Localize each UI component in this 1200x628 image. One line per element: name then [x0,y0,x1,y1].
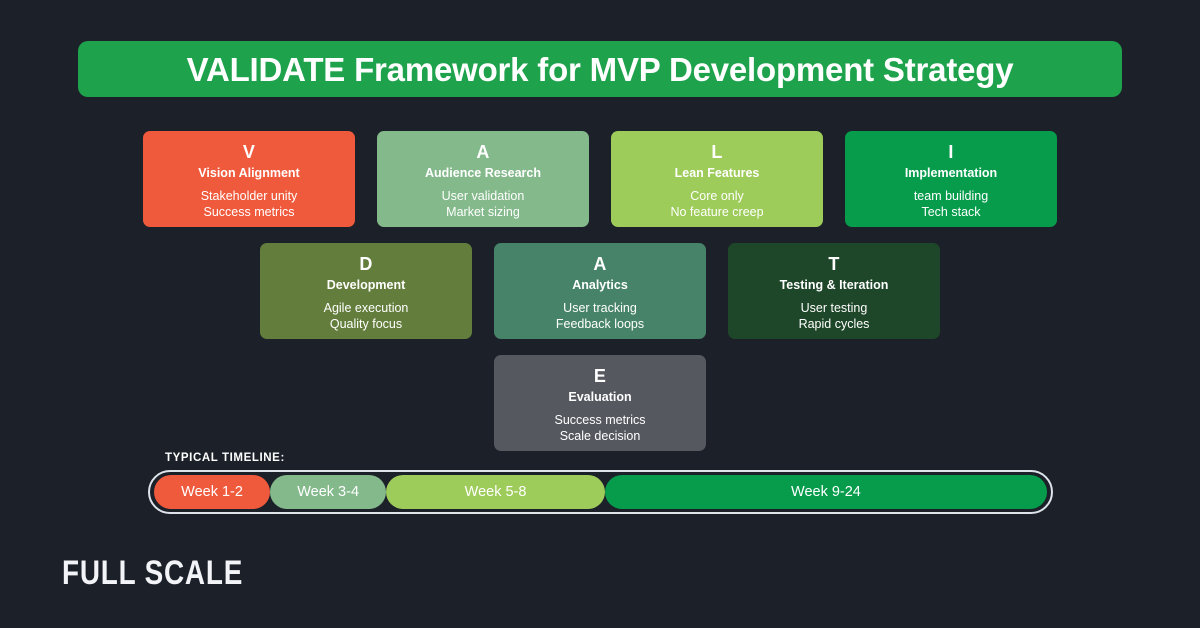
stage-detail: team buildingTech stack [845,188,1057,220]
stage-letter: A [494,253,706,275]
timeline-segment-2[interactable]: Week 3-4 [270,475,386,509]
stage-detail-line-1: User tracking [494,300,706,316]
stage-detail: Agile executionQuality focus [260,300,472,332]
stage-detail-line-2: Rapid cycles [728,316,940,332]
stage-detail-line-2: Quality focus [260,316,472,332]
timeline-segment-label: Week 1-2 [181,484,243,500]
stage-detail-line-2: Success metrics [143,204,355,220]
stage-name: Analytics [494,276,706,294]
stage-letter: A [377,141,589,163]
stage-detail-line-2: Feedback loops [494,316,706,332]
stage-detail-line-1: User validation [377,188,589,204]
stage-detail: User trackingFeedback loops [494,300,706,332]
stage-card-testing-iteration[interactable]: TTesting & IterationUser testingRapid cy… [728,243,940,339]
timeline-segment-3[interactable]: Week 5-8 [386,475,605,509]
stage-letter: V [143,141,355,163]
stage-card-lean-features[interactable]: LLean FeaturesCore onlyNo feature creep [611,131,823,227]
timeline-track: Week 1-2Week 3-4Week 5-8Week 9-24 [148,470,1053,514]
stage-detail-line-2: No feature creep [611,204,823,220]
stage-detail-line-1: team building [845,188,1057,204]
stage-detail-line-2: Scale decision [494,428,706,444]
stage-card-vision-alignment[interactable]: VVision AlignmentStakeholder unitySucces… [143,131,355,227]
framework-row-3: EEvaluationSuccess metricsScale decision [0,355,1200,451]
stage-detail-line-2: Tech stack [845,204,1057,220]
stage-detail: User testingRapid cycles [728,300,940,332]
stage-name: Lean Features [611,164,823,182]
brand-logo: FULL SCALE [62,554,243,593]
stage-letter: L [611,141,823,163]
stage-letter: D [260,253,472,275]
framework-row-2: DDevelopmentAgile executionQuality focus… [0,243,1200,339]
framework-row-1: VVision AlignmentStakeholder unitySucces… [0,131,1200,227]
page-title: VALIDATE Framework for MVP Development S… [187,53,1014,86]
stage-name: Development [260,276,472,294]
stage-letter: I [845,141,1057,163]
stage-detail-line-1: Stakeholder unity [143,188,355,204]
stage-card-audience-research[interactable]: AAudience ResearchUser validationMarket … [377,131,589,227]
stage-letter: T [728,253,940,275]
stage-name: Vision Alignment [143,164,355,182]
timeline-section: TYPICAL TIMELINE: Week 1-2Week 3-4Week 5… [148,452,1053,514]
timeline-segment-label: Week 9-24 [791,484,861,500]
stage-detail-line-2: Market sizing [377,204,589,220]
page-title-banner: VALIDATE Framework for MVP Development S… [78,41,1122,97]
stage-card-analytics[interactable]: AAnalyticsUser trackingFeedback loops [494,243,706,339]
stage-name: Audience Research [377,164,589,182]
stage-detail: Success metricsScale decision [494,412,706,444]
timeline-segment-label: Week 3-4 [297,484,359,500]
stage-detail-line-1: Core only [611,188,823,204]
stage-name: Evaluation [494,388,706,406]
stage-detail-line-1: Agile execution [260,300,472,316]
stage-name: Testing & Iteration [728,276,940,294]
timeline-segment-1[interactable]: Week 1-2 [154,475,270,509]
stage-card-development[interactable]: DDevelopmentAgile executionQuality focus [260,243,472,339]
timeline-label: TYPICAL TIMELINE: [165,452,1053,464]
stage-card-evaluation[interactable]: EEvaluationSuccess metricsScale decision [494,355,706,451]
timeline-segment-label: Week 5-8 [465,484,527,500]
stage-detail-line-1: Success metrics [494,412,706,428]
stage-detail: Stakeholder unitySuccess metrics [143,188,355,220]
stage-detail: User validationMarket sizing [377,188,589,220]
stage-name: Implementation [845,164,1057,182]
stage-detail-line-1: User testing [728,300,940,316]
stage-letter: E [494,365,706,387]
stage-card-implementation[interactable]: IImplementationteam buildingTech stack [845,131,1057,227]
stage-detail: Core onlyNo feature creep [611,188,823,220]
timeline-segment-4[interactable]: Week 9-24 [605,475,1047,509]
